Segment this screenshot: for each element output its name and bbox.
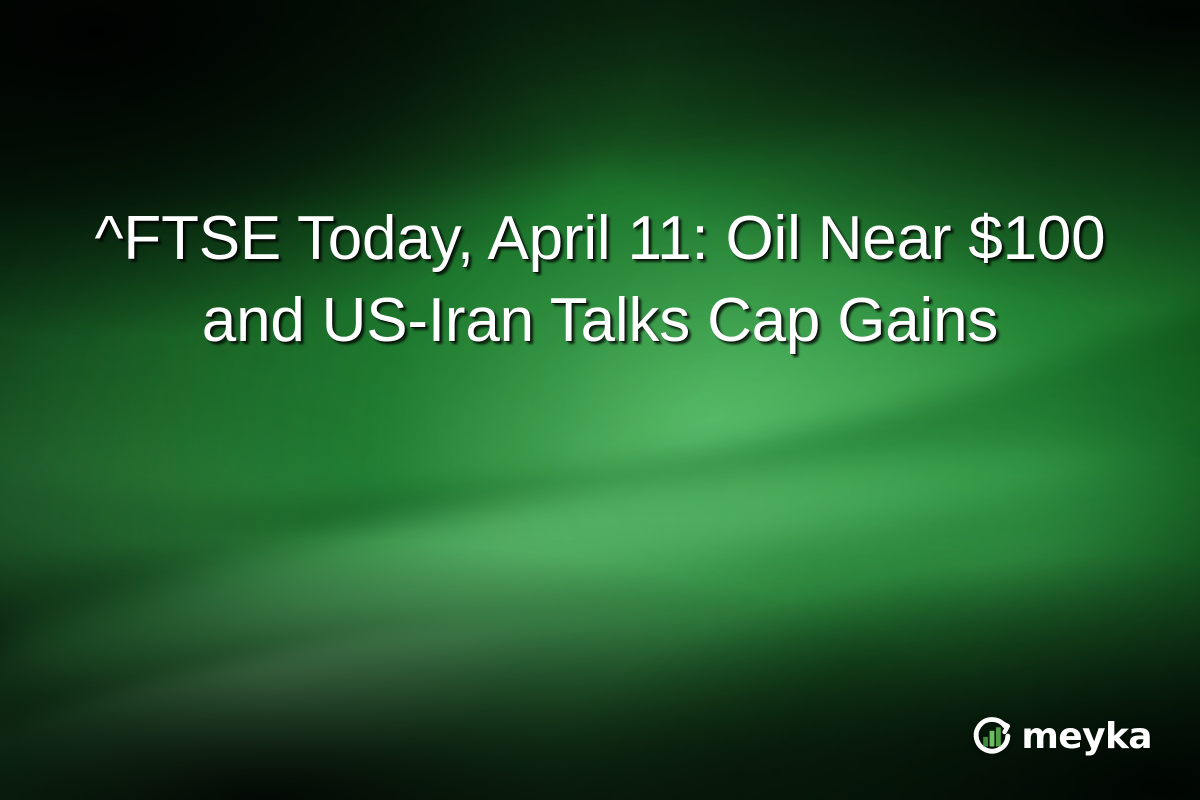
social-share-card: ^FTSE Today, April 11: Oil Near $100 and… (0, 0, 1200, 800)
brand-logo: meyka (970, 714, 1152, 758)
page-title: ^FTSE Today, April 11: Oil Near $100 and… (65, 198, 1135, 362)
meyka-circular-bar-chart-logo-icon (970, 714, 1014, 758)
brand-wordmark: meyka (1021, 719, 1152, 755)
headline-container: ^FTSE Today, April 11: Oil Near $100 and… (0, 0, 1200, 560)
wave-filament-bottom-left (0, 538, 977, 800)
